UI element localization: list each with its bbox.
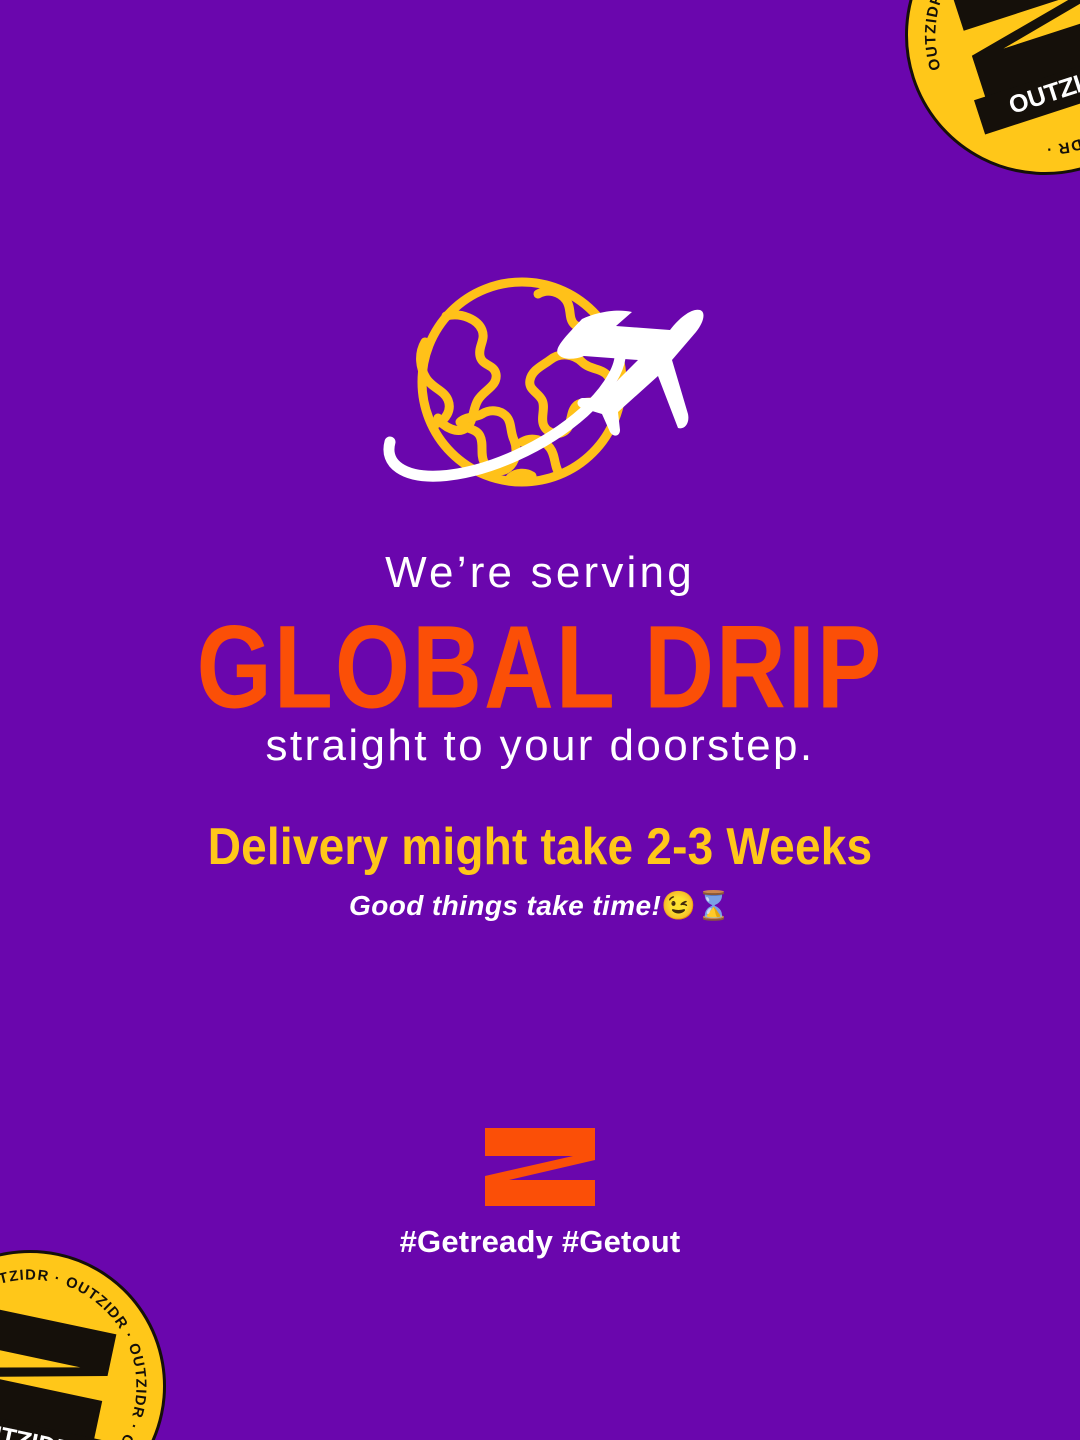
outzidr-sticker-top-right: OUTZIDR · OUTZIDR · OUTZIDR · OUTZIDR · … <box>869 0 1080 211</box>
outzidr-z-logo-icon <box>479 1124 601 1210</box>
page-title: GLOBAL DRIP <box>0 609 1080 711</box>
globe-with-airplane-icon <box>370 272 710 502</box>
headline-block: We’re serving GLOBAL DRIP straight to yo… <box>0 548 1080 771</box>
wink-hourglass-emoji: 😉⌛ <box>661 890 731 921</box>
footer-brand-block: #Getready #Getout <box>0 1124 1080 1260</box>
hero-illustration <box>0 272 1080 502</box>
promo-poster: OUTZIDR · OUTZIDR · OUTZIDR · OUTZIDR · … <box>0 0 1080 1440</box>
delivery-note-text: Good things take time! <box>349 890 661 921</box>
delivery-note: Good things take time!😉⌛ <box>0 889 1080 922</box>
eyebrow-text: We’re serving <box>0 548 1080 597</box>
delivery-notice: Delivery might take 2-3 Weeks Good thing… <box>0 820 1080 922</box>
delivery-time-text: Delivery might take 2-3 Weeks <box>0 817 1080 876</box>
hashtags-text: #Getready #Getout <box>0 1224 1080 1260</box>
